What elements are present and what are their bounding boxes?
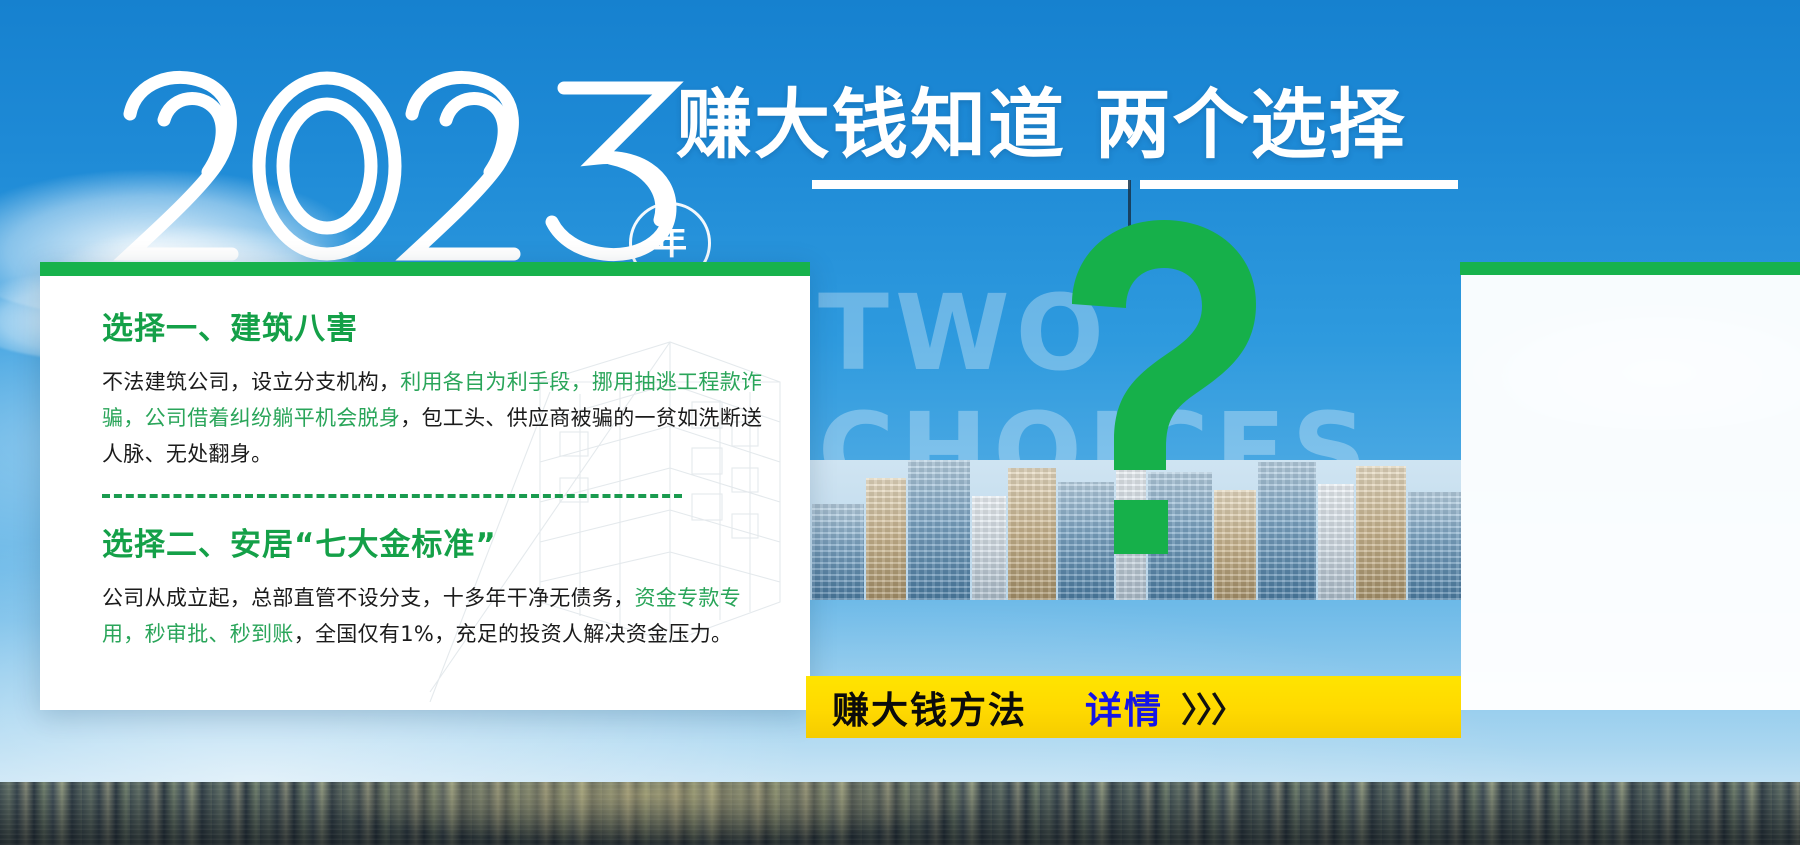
card-accent-bar <box>40 262 810 276</box>
card-content: 选择一、建筑八害 不法建筑公司，设立分支机构，利用各自为利手段，挪用抽逃工程款诈… <box>102 308 782 652</box>
page-title: 赚大钱知道 两个选择 <box>676 76 1486 174</box>
year-suffix-label: 年 <box>653 226 687 260</box>
chevron-right-icon: 〉〉〉 <box>1181 683 1243 732</box>
content-card: 选择一、建筑八害 不法建筑公司，设立分支机构，利用各自为利手段，挪用抽逃工程款诈… <box>40 262 810 710</box>
showcase-panel: TWO CHOICES <box>806 196 1461 600</box>
right-white-panel <box>1461 275 1800 710</box>
headline-rule-right <box>1140 180 1458 189</box>
section-one-text-part: 不法建筑公司，设立分支机构， <box>102 370 400 394</box>
question-mark-icon <box>1038 208 1288 600</box>
cta-detail-link[interactable]: 详情 <box>1085 680 1163 734</box>
cta-banner[interactable]: 赚大钱方法 详情 〉〉〉 <box>806 676 1461 738</box>
headline-rule-left <box>812 180 1130 189</box>
waterfront-glow <box>300 782 1000 845</box>
banner-stage: 年 赚大钱知道 两个选择 TWO CHOICES <box>0 0 1800 845</box>
section-body-two: 公司从成立起，总部直管不设分支，十多年干净无债务，资金专款专用，秒审批、秒到账，… <box>102 580 782 652</box>
section-title-one: 选择一、建筑八害 <box>102 308 782 350</box>
cta-main-label: 赚大钱方法 <box>832 680 1027 734</box>
section-title-two: 选择二、安居“七大金标准” <box>102 524 782 566</box>
year-graphic: 年 <box>112 62 712 262</box>
section-two-text-tail: ，全国仅有1%，充足的投资人解决资金压力。 <box>294 622 733 646</box>
right-accent-bar <box>1460 262 1800 275</box>
waterfront-strip <box>0 782 1800 845</box>
year-numerals-svg <box>112 62 712 262</box>
section-two-text-part: 公司从成立起，总部直管不设分支，十多年干净无债务， <box>102 586 635 610</box>
section-body-one: 不法建筑公司，设立分支机构，利用各自为利手段，挪用抽逃工程款诈骗，公司借着纠纷躺… <box>102 364 782 472</box>
section-divider <box>102 494 682 498</box>
